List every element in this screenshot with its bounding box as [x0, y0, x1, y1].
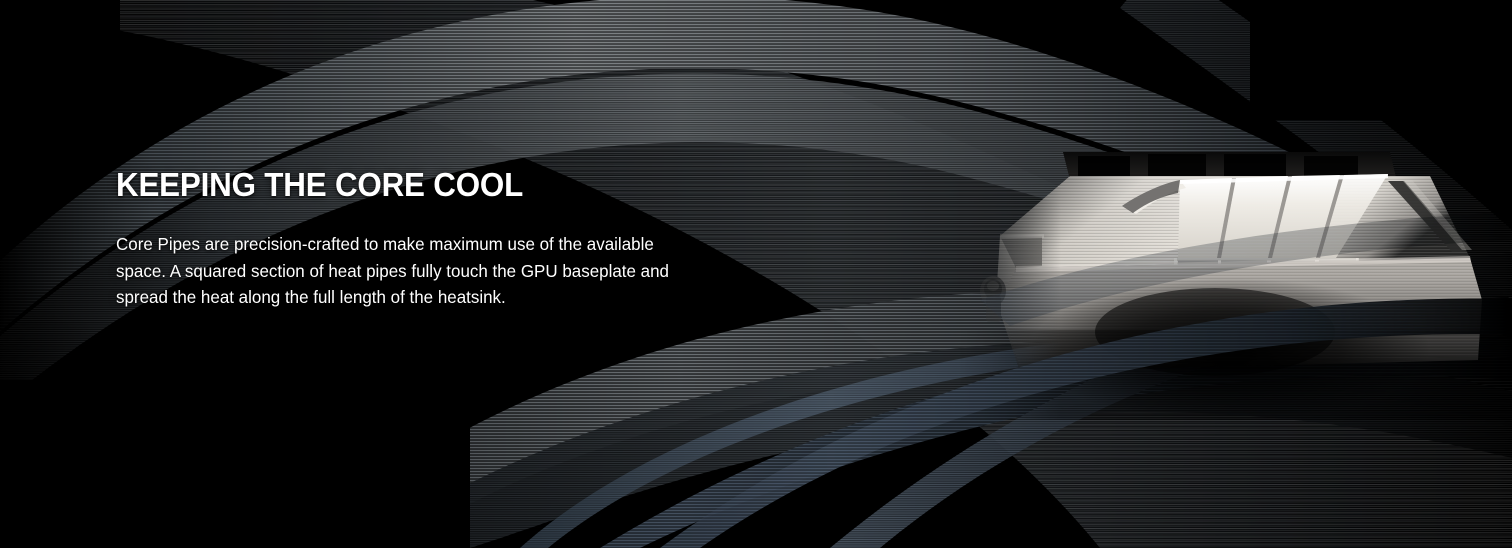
- copy-block: KEEPING THE CORE COOL Core Pipes are pre…: [116, 165, 736, 311]
- product-feature-banner: KEEPING THE CORE COOL Core Pipes are pre…: [0, 0, 1512, 548]
- body-paragraph: Core Pipes are precision-crafted to make…: [116, 205, 708, 311]
- page-title: KEEPING THE CORE COOL: [116, 165, 705, 205]
